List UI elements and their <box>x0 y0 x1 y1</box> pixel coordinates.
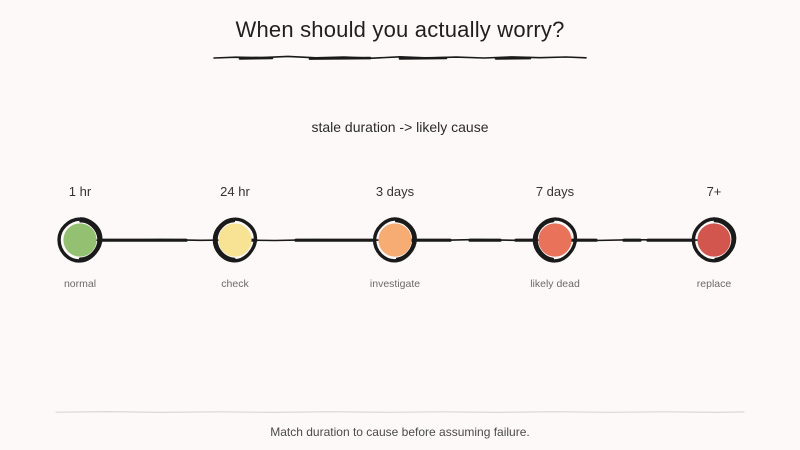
node-fill <box>697 223 730 256</box>
timeline-node-7plus[interactable]: 7+ replace <box>654 180 774 300</box>
node-duration-label: 7+ <box>654 184 774 199</box>
timeline-node-3days[interactable]: 3 days investigate <box>335 180 455 300</box>
diagram-canvas: When should you actually worry? stale du… <box>0 0 800 450</box>
node-fill <box>538 223 571 256</box>
footer-divider <box>50 404 750 420</box>
node-duration-label: 3 days <box>335 184 455 199</box>
node-fill <box>218 223 251 256</box>
page-subtitle: stale duration -> likely cause <box>0 119 800 135</box>
node-circle-icon <box>688 214 740 266</box>
node-circle-icon <box>529 214 581 266</box>
node-cause-label: likely dead <box>495 278 615 290</box>
page-title: When should you actually worry? <box>0 17 800 43</box>
timeline-node-7days[interactable]: 7 days likely dead <box>495 180 615 300</box>
node-circle-icon <box>369 214 421 266</box>
node-cause-label: check <box>175 278 295 290</box>
title-underline <box>210 48 590 66</box>
node-duration-label: 24 hr <box>175 184 295 199</box>
node-fill <box>378 223 411 256</box>
footer-note: Match duration to cause before assuming … <box>0 425 800 439</box>
node-cause-label: investigate <box>335 278 455 290</box>
timeline-node-1hr[interactable]: 1 hr normal <box>20 180 140 300</box>
timeline-node-24hr[interactable]: 24 hr check <box>175 180 295 300</box>
node-circle-icon <box>209 214 261 266</box>
node-duration-label: 1 hr <box>20 184 140 199</box>
node-duration-label: 7 days <box>495 184 615 199</box>
node-fill <box>63 223 96 256</box>
timeline: 1 hr normal 24 hr check <box>0 180 800 300</box>
node-circle-icon <box>54 214 106 266</box>
node-cause-label: normal <box>20 278 140 290</box>
node-cause-label: replace <box>654 278 774 290</box>
